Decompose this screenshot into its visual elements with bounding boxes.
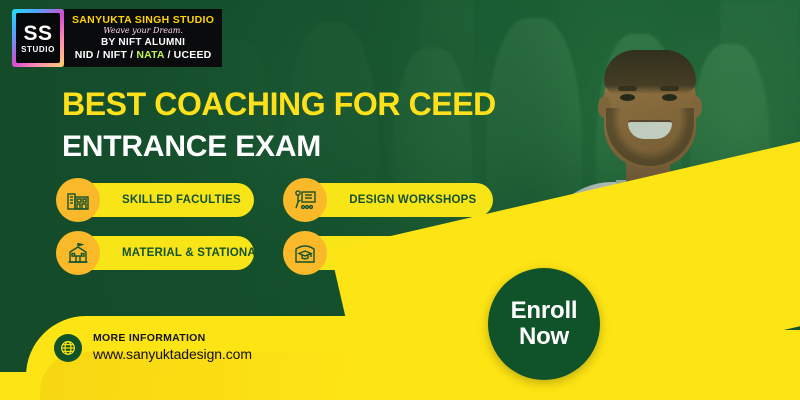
feature-pill-label: SKILLED FACULTIES (122, 194, 241, 206)
website-url[interactable]: www.sanyuktadesign.com (93, 346, 252, 364)
feature-pill-label: MATERIAL & STATIONARY (122, 247, 272, 259)
feature-pill-label: DESIGN WORKSHOPS (349, 194, 476, 206)
logo-studio-word: STUDIO (21, 46, 55, 54)
globe-icon (54, 334, 82, 362)
feature-pill-design-workshops[interactable]: DESIGN WORKSHOPS (283, 178, 486, 222)
contact-info[interactable]: MORE INFORMATION www.sanyuktadesign.com (54, 332, 252, 364)
school-building-icon (56, 231, 100, 275)
logo-studio-name: SANYUKTA SINGH STUDIO (72, 14, 214, 26)
headline-line-1: BEST COACHING FOR CEED (62, 88, 532, 122)
contact-textblock: MORE INFORMATION www.sanyuktadesign.com (93, 332, 252, 364)
promo-banner: SS STUDIO SANYUKTA SINGH STUDIO Weave yo… (0, 0, 800, 400)
logo-badge: SS STUDIO (12, 9, 64, 67)
logo-credential: BY NIFT ALUMNI (101, 37, 185, 49)
logo-textblock: SANYUKTA SINGH STUDIO Weave your Dream. … (64, 9, 222, 67)
logo-tagline: Weave your Dream. (103, 26, 183, 37)
enroll-now-button[interactable]: Enroll Now (488, 268, 600, 380)
lab-building-icon (56, 178, 100, 222)
feature-pill-skilled-faculties[interactable]: SKILLED FACULTIES (56, 178, 247, 222)
feature-pill-row-1: SKILLED FACULTIES (56, 178, 486, 222)
headline-line-2: ENTRANCE EXAM (62, 131, 532, 163)
logo-exams-prefix: NID / NIFT / (75, 49, 137, 61)
enroll-label-line-1: Enroll (511, 298, 578, 324)
logo-exams-highlight: NATA (136, 49, 164, 61)
presenter-board-icon (283, 178, 327, 222)
feature-pill-material-stationary[interactable]: MATERIAL & STATIONARY (56, 231, 247, 275)
more-information-label: MORE INFORMATION (93, 332, 252, 345)
logo-exam-list: NID / NIFT / NATA / UCEED (75, 49, 212, 62)
graduation-cap-icon (283, 231, 327, 275)
logo-exams-suffix: / UCEED (164, 49, 211, 61)
enroll-label-line-2: Now (519, 324, 569, 350)
logo-initials: SS (23, 23, 52, 44)
studio-logo[interactable]: SS STUDIO SANYUKTA SINGH STUDIO Weave yo… (12, 9, 222, 67)
headline-block: BEST COACHING FOR CEED ENTRANCE EXAM (62, 88, 532, 162)
